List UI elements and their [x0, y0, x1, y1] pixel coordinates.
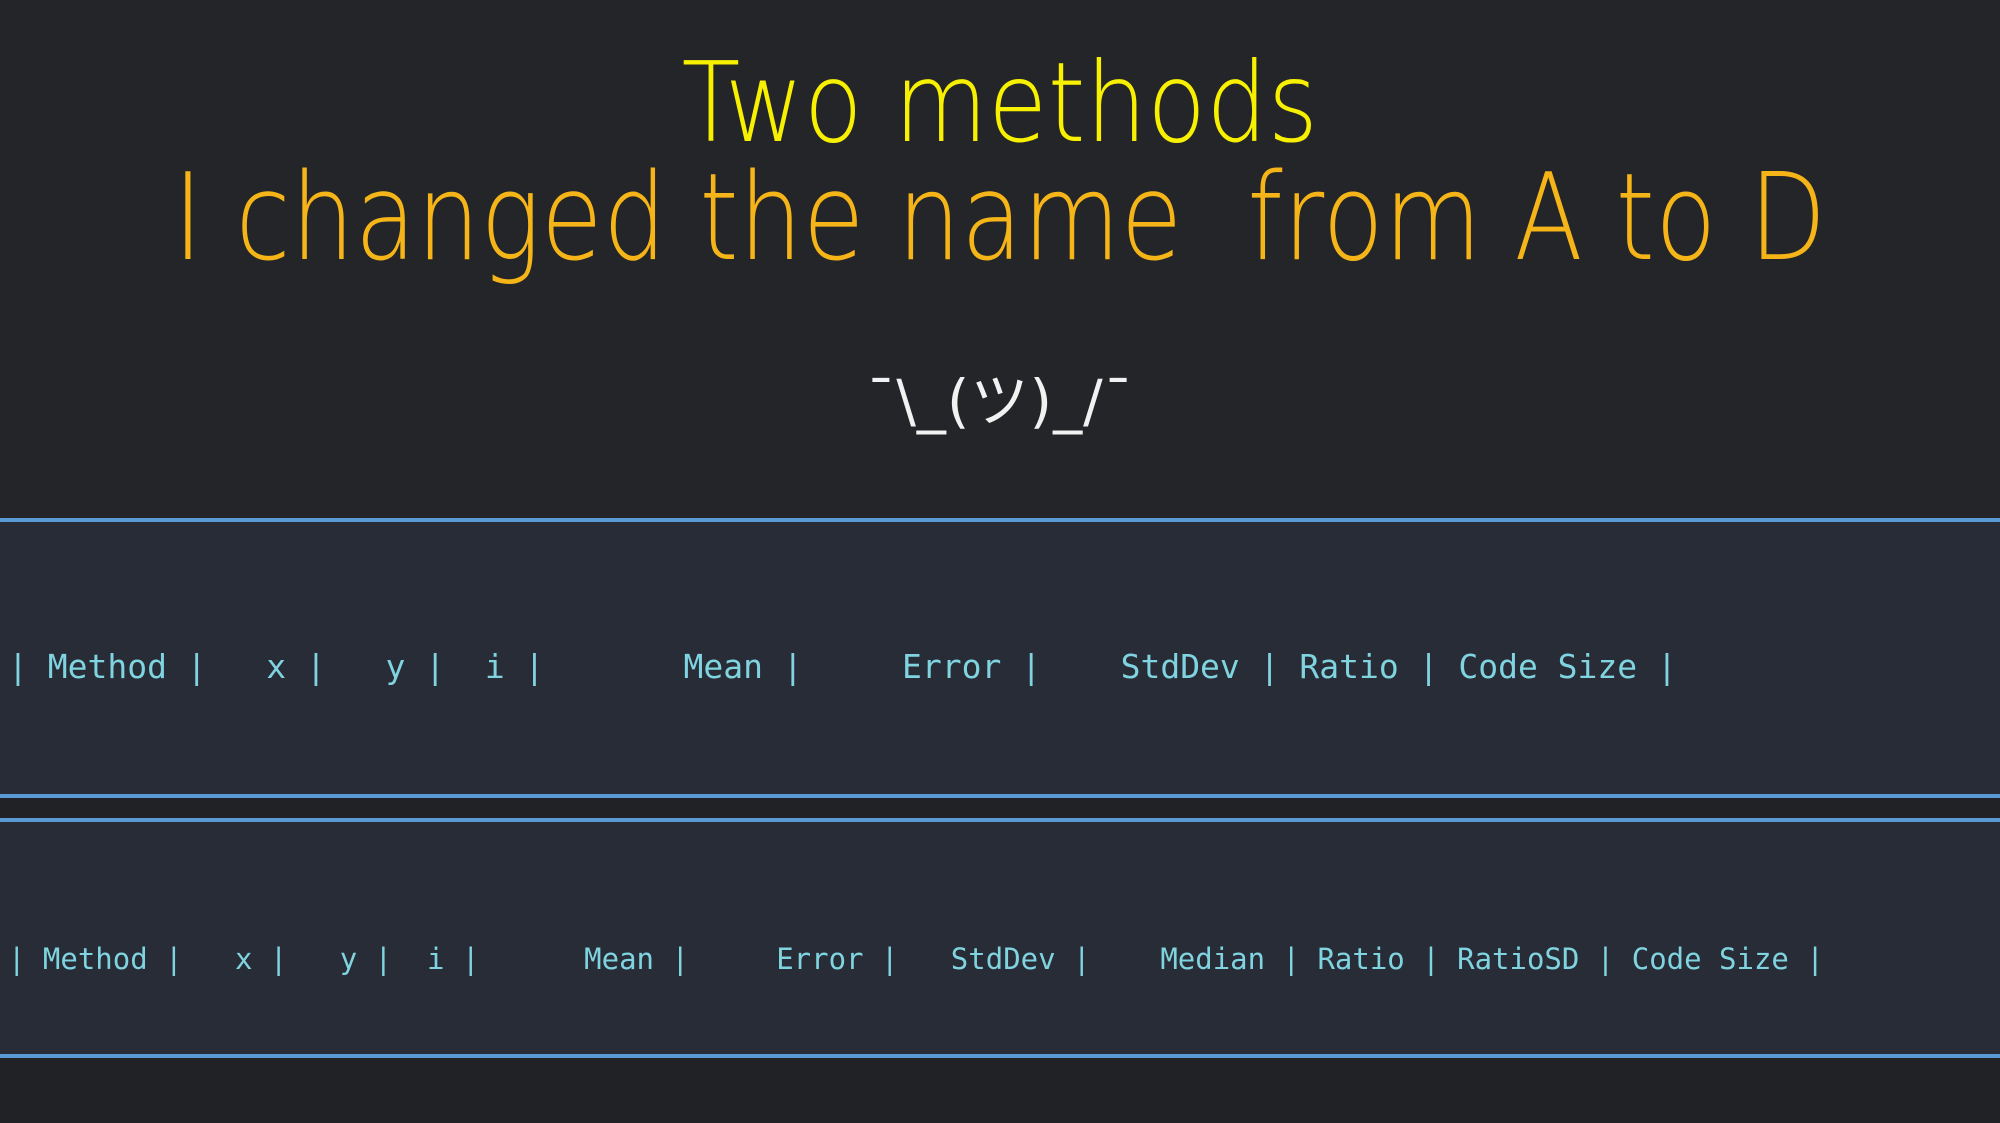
subtitle: I changed the name from A to D: [0, 158, 2000, 278]
panel-gap: [0, 798, 2000, 818]
page-title: Two methods: [0, 48, 2000, 158]
shrug-emoticon-icon: ¯\_(ツ)_/¯: [0, 372, 2000, 430]
table-header-row: | Method | x | y | i | Mean | Error | St…: [0, 642, 2000, 691]
table-separator-row: |------- |---- |---- |-- |-----------:|-…: [0, 789, 2000, 798]
benchmark-table-2-panel: | Method | x | y | i | Mean | Error | St…: [0, 818, 2000, 1058]
title-block: Two methods I changed the name from A to…: [0, 0, 2000, 520]
benchmark-table-1-panel: | Method | x | y | i | Mean | Error | St…: [0, 518, 2000, 798]
table-header-row: | Method | x | y | i | Mean | Error | St…: [0, 938, 2000, 980]
